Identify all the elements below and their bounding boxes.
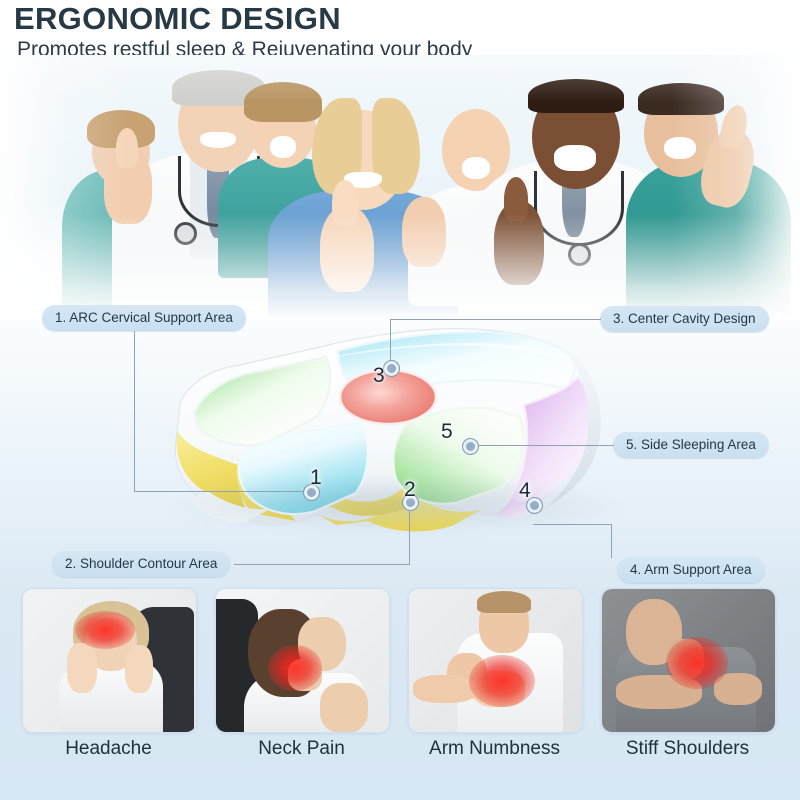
infographic-page: ERGONOMIC DESIGN Promotes restful sleep … bbox=[0, 0, 800, 800]
symptom-caption-headache: Headache bbox=[22, 738, 195, 760]
callout-leader-1-vertical bbox=[134, 331, 135, 492]
symptom-photo-stiff-shoulders bbox=[602, 589, 775, 732]
symptom-card-row: Headache Neck Pain bbox=[0, 588, 800, 800]
symptom-caption-stiff-shoulders: Stiff Shoulders bbox=[601, 738, 774, 760]
pain-highlight-headache bbox=[75, 611, 135, 649]
marker-number-1: 1 bbox=[310, 466, 322, 490]
marker-number-3: 3 bbox=[373, 364, 385, 388]
callout-label-1[interactable]: 1. ARC Cervical Support Area bbox=[42, 305, 246, 331]
marker-number-2: 2 bbox=[404, 478, 416, 502]
pain-highlight-arm bbox=[469, 655, 535, 707]
marker-number-4: 4 bbox=[519, 479, 531, 503]
marker-dot-3[interactable] bbox=[383, 360, 400, 377]
callout-label-3[interactable]: 3. Center Cavity Design bbox=[600, 306, 769, 332]
symptom-photo-neck-pain bbox=[216, 589, 389, 732]
pain-highlight-shoulder bbox=[666, 637, 728, 689]
callout-leader-3-horizontal bbox=[390, 319, 601, 320]
symptom-photo-arm-numbness bbox=[409, 589, 582, 732]
callout-label-4[interactable]: 4. Arm Support Area bbox=[617, 557, 765, 583]
marker-number-5: 5 bbox=[441, 420, 453, 444]
symptom-card-stiff-shoulders[interactable] bbox=[601, 588, 776, 733]
medical-team-photo bbox=[0, 55, 800, 320]
callout-leader-5-horizontal bbox=[470, 445, 614, 446]
callout-label-2[interactable]: 2. Shoulder Contour Area bbox=[52, 551, 230, 577]
callout-leader-4-horizontal bbox=[533, 524, 612, 525]
callout-leader-4-vertical bbox=[611, 524, 612, 558]
symptom-card-neck-pain[interactable] bbox=[215, 588, 390, 733]
page-title: ERGONOMIC DESIGN bbox=[14, 1, 341, 37]
callout-leader-1-horizontal bbox=[134, 491, 310, 492]
symptom-caption-neck-pain: Neck Pain bbox=[215, 738, 388, 760]
symptom-card-headache[interactable] bbox=[22, 588, 197, 733]
symptom-card-arm-numbness[interactable] bbox=[408, 588, 583, 733]
symptom-caption-arm-numbness: Arm Numbness bbox=[408, 738, 581, 760]
pain-highlight-neck bbox=[268, 645, 322, 691]
callout-label-5[interactable]: 5. Side Sleeping Area bbox=[613, 432, 769, 458]
callout-leader-2-horizontal bbox=[234, 564, 410, 565]
callout-leader-3-vertical bbox=[390, 319, 391, 365]
symptom-photo-headache bbox=[23, 589, 196, 732]
marker-dot-5[interactable] bbox=[462, 438, 479, 455]
